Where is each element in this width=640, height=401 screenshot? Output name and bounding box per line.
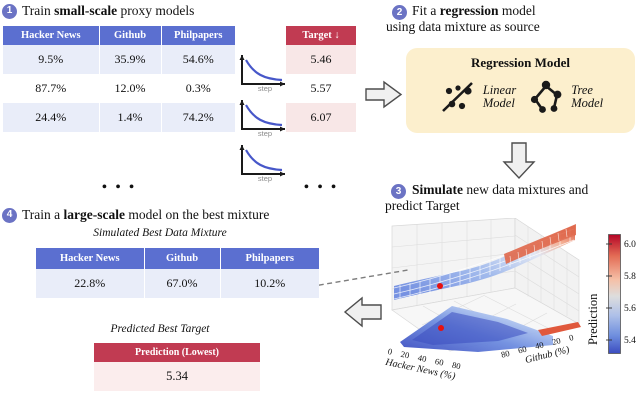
- prediction-table: Prediction (Lowest) 5.34: [94, 343, 260, 391]
- best-col-header-philpapers: Philpapers: [220, 248, 319, 269]
- loss-curve-2: [240, 145, 286, 177]
- step-1-header: 1 Train small-scale proxy models: [2, 3, 194, 20]
- best-mixture-point-floor: [438, 325, 444, 331]
- regression-box-title: Regression Model: [471, 55, 570, 71]
- table-header-row: Hacker News Github Philpapers: [36, 248, 319, 269]
- proxy-table-ellipsis: • • •: [3, 183, 235, 193]
- step-4-title-bold: large-scale: [64, 207, 125, 222]
- step-2-title: Fit a regression model: [412, 3, 536, 20]
- table-row: 5.57: [286, 74, 356, 103]
- cell-hn-2: 24.4%: [3, 103, 99, 132]
- table-header-row: Prediction (Lowest): [94, 343, 260, 362]
- cell-gh-2: 1.4%: [99, 103, 161, 132]
- arrow-right-icon: [364, 79, 404, 110]
- step-1-title: Train small-scale proxy models: [22, 3, 194, 20]
- loss-curve-0: [240, 55, 286, 87]
- table-row: 5.34: [94, 362, 260, 391]
- regression-model-list: Linear Model Tree Mod: [438, 77, 603, 117]
- proxy-mixture-table: Hacker News Github Philpapers 9.5% 35.9%…: [3, 26, 235, 132]
- x-tick-1: 20: [400, 349, 410, 361]
- step-1-badge: 1: [2, 4, 17, 19]
- colorbar-tick-2: 5.6: [624, 304, 636, 314]
- colorbar-tick-3: 5.4: [624, 336, 636, 346]
- tree-icon: [526, 77, 566, 117]
- colorbar-tick-1: 5.8: [624, 272, 636, 282]
- step-3-line1-bold: Simulate: [412, 182, 463, 197]
- col-header-hacker-news: Hacker News: [3, 26, 99, 45]
- step-4-header: 4 Train a large-scale model on the best …: [2, 207, 269, 224]
- step-2-title-line2: using data mixture as source: [386, 19, 540, 36]
- table-row: 22.8% 67.0% 10.2%: [36, 269, 319, 298]
- best-mixture-point-surface: [437, 283, 443, 289]
- table-row: 6.07: [286, 103, 356, 132]
- prediction-col-header: Prediction (Lowest): [94, 343, 260, 362]
- step-4-title: Train a large-scale model on the best mi…: [22, 207, 269, 224]
- step-3-header: 3 Simulate new data mixtures and: [391, 182, 588, 199]
- tree-model-item: Tree Model: [526, 77, 603, 117]
- cell-hn-1: 87.7%: [3, 74, 99, 103]
- loss-curve-1: [240, 100, 286, 132]
- step-4-title-pre: Train a: [22, 207, 64, 222]
- cell-gh-0: 35.9%: [99, 45, 161, 74]
- linear-model-item: Linear Model: [438, 77, 516, 117]
- x-tick-0: 0: [387, 346, 393, 357]
- tree-model-label: Tree Model: [571, 84, 603, 110]
- step-2-line1-bold: regression: [440, 3, 499, 18]
- table-header-row: Hacker News Github Philpapers: [3, 26, 235, 45]
- colorbar-title: Prediction: [586, 294, 601, 345]
- cell-target-0: 5.46: [286, 45, 356, 74]
- step-3-line1-post: new data mixtures and: [463, 182, 588, 197]
- step-1-title-post: proxy models: [117, 3, 194, 18]
- step-3-title-line1: Simulate new data mixtures and: [412, 182, 588, 199]
- best-cell-hacker-news: 22.8%: [36, 269, 144, 298]
- step-2-title-line1: Fit a regression model: [412, 3, 536, 20]
- target-table-ellipsis: • • •: [286, 183, 356, 193]
- step-2-header: 2 Fit a regression model: [392, 3, 536, 20]
- linear-model-label-line2: Model: [483, 97, 516, 110]
- cell-pp-2: 74.2%: [161, 103, 235, 132]
- col-header-philpapers: Philpapers: [161, 26, 235, 45]
- best-cell-philpapers: 10.2%: [220, 269, 319, 298]
- arrow-left-icon: [342, 296, 384, 328]
- step-4-badge: 4: [2, 208, 17, 223]
- cell-target-1: 5.57: [286, 74, 356, 103]
- curve-xlabel-2: step: [238, 174, 292, 183]
- curve-xlabel-1: step: [238, 129, 292, 138]
- col-header-github: Github: [99, 26, 161, 45]
- colorbar-tick-marks: [606, 234, 612, 354]
- table-row: 87.7% 12.0% 0.3%: [3, 74, 235, 103]
- x-tick-2: 40: [417, 352, 427, 364]
- cell-hn-0: 9.5%: [3, 45, 99, 74]
- best-col-header-hacker-news: Hacker News: [36, 248, 144, 269]
- step-1-title-pre: Train: [22, 3, 54, 18]
- x-tick-3: 60: [434, 356, 444, 368]
- arrow-down-icon: [501, 141, 537, 181]
- y-tick-0: 80: [500, 348, 511, 360]
- table-row: 9.5% 35.9% 54.6%: [3, 45, 235, 74]
- curve-xlabel-0: step: [238, 84, 292, 93]
- best-col-header-github: Github: [144, 248, 220, 269]
- target-table: Target ↓ 5.46 5.57 6.07: [286, 26, 356, 132]
- best-mixture-caption: Simulated Best Data Mixture: [0, 227, 320, 239]
- step-2-badge: 2: [392, 5, 407, 20]
- linear-model-label: Linear Model: [483, 84, 516, 110]
- step-3-title-line2: predict Target: [385, 198, 460, 215]
- x-tick-4: 80: [451, 360, 461, 372]
- step-2-line1-post: model: [499, 3, 536, 18]
- table-row: 24.4% 1.4% 74.2%: [3, 103, 235, 132]
- step-1-title-bold: small-scale: [54, 3, 117, 18]
- col-header-target: Target ↓: [286, 26, 356, 45]
- best-mixture-table: Hacker News Github Philpapers 22.8% 67.0…: [36, 248, 319, 298]
- regression-model-box: Regression Model Linear Model: [406, 48, 635, 133]
- cell-pp-1: 0.3%: [161, 74, 235, 103]
- cell-pp-0: 54.6%: [161, 45, 235, 74]
- scatter-line-icon: [438, 77, 478, 117]
- loss-curve-thumbnails: [238, 52, 292, 182]
- cell-gh-1: 12.0%: [99, 74, 161, 103]
- table-row: 5.46: [286, 45, 356, 74]
- step-2-line1-pre: Fit a: [412, 3, 440, 18]
- tree-model-label-line2: Model: [571, 97, 603, 110]
- prediction-caption: Predicted Best Target: [0, 323, 320, 335]
- cell-target-2: 6.07: [286, 103, 356, 132]
- colorbar-tick-0: 6.0: [624, 240, 636, 250]
- table-header-row: Target ↓: [286, 26, 356, 45]
- prediction-value-cell: 5.34: [94, 362, 260, 391]
- figure-canvas: 1 Train small-scale proxy models Hacker …: [0, 0, 640, 401]
- step-3-badge: 3: [391, 184, 406, 199]
- step-4-title-post: model on the best mixture: [125, 207, 269, 222]
- best-cell-github: 67.0%: [144, 269, 220, 298]
